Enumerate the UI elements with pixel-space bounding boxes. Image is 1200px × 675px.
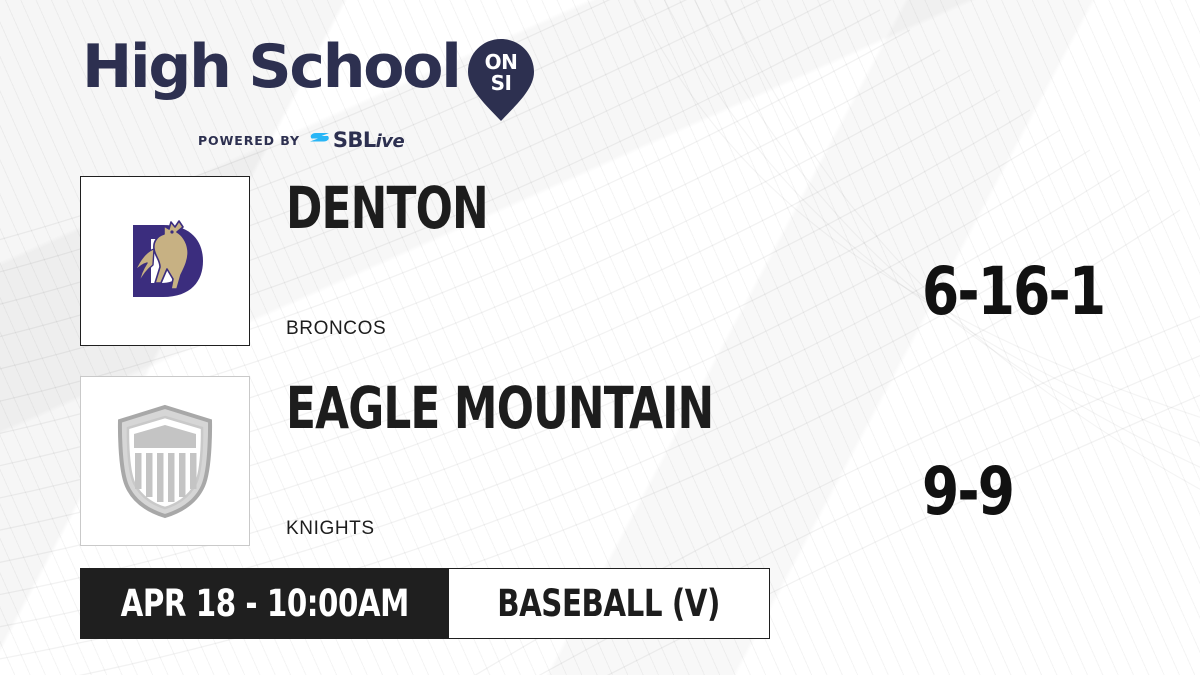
sblive-name-suffix: ive <box>376 131 405 152</box>
footer-bar: APR 18 - 10:00AM BASEBALL (V) <box>80 568 770 639</box>
sblive-name-main: SBL <box>333 128 376 152</box>
team-mascot-home: BRONCOS <box>286 318 906 340</box>
game-datetime-label: APR 18 - 10:00AM <box>120 585 408 623</box>
powered-by-row: POWERED BY SBLive <box>198 128 536 152</box>
pin-label-si: SI <box>490 71 511 95</box>
sport-label: BASEBALL (V) <box>498 585 721 623</box>
sport-badge: BASEBALL (V) <box>449 568 770 639</box>
team-text-away: EAGLE MOUNTAIN KNIGHTS <box>286 376 906 546</box>
powered-by-label: POWERED BY <box>198 133 300 148</box>
sblive-logo: SBLive <box>309 128 404 152</box>
team-logo-box-away <box>80 376 250 546</box>
sblive-wordmark: SBLive <box>333 128 404 152</box>
team-name-away: EAGLE MOUNTAIN <box>286 378 807 438</box>
team-text-home: DENTON BRONCOS <box>286 176 906 346</box>
team-logo-box-home <box>80 176 250 346</box>
brand-wordmark: High School <box>82 36 460 98</box>
matchup-card: High School ON SI POWERED BY SBLive <box>0 0 1200 675</box>
denton-broncos-logo-icon <box>105 201 225 321</box>
generic-shield-logo-icon <box>110 402 220 520</box>
brand-lockup: High School ON SI POWERED BY SBLive <box>82 36 536 152</box>
brand-title-row: High School ON SI <box>82 36 536 123</box>
team-record-away: 9-9 <box>922 459 1013 525</box>
game-datetime-badge: APR 18 - 10:00AM <box>80 568 449 639</box>
team-record-home: 6-16-1 <box>922 259 1104 325</box>
on-si-pin-icon: ON SI <box>466 37 536 123</box>
team-name-home: DENTON <box>286 178 807 238</box>
sblive-s-mark-icon <box>309 130 331 150</box>
team-mascot-away: KNIGHTS <box>286 518 906 540</box>
